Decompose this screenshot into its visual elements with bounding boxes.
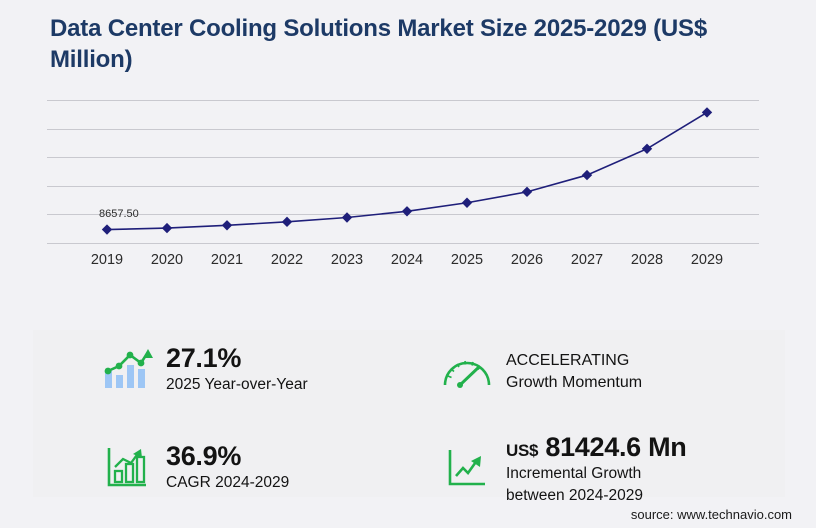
chart-data-point: [402, 206, 412, 216]
chart-data-point: [162, 223, 172, 233]
x-axis-tick-label: 2028: [617, 252, 677, 268]
chart-data-point: [522, 187, 532, 197]
stat-unit: US$: [506, 441, 538, 460]
chart-data-point: [462, 198, 472, 208]
stat-value: US$ 81424.6 Mn: [506, 432, 686, 462]
stat-incremental-growth: US$ 81424.6 Mn Incremental Growth betwee…: [440, 432, 686, 505]
x-axis-tick-label: 2029: [677, 252, 737, 268]
bar-line-growth-icon: [100, 342, 154, 396]
chart-data-point: [222, 220, 232, 230]
x-axis-tick-label: 2024: [377, 252, 437, 268]
chart-data-point: [702, 107, 712, 117]
chart-series: [47, 100, 759, 255]
stat-caption: Growth Momentum: [506, 372, 642, 394]
stat-headline: ACCELERATING: [506, 350, 642, 372]
stat-caption: CAGR 2024-2029: [166, 473, 289, 492]
x-axis-tick-label: 2021: [197, 252, 257, 268]
gauge-icon: [440, 345, 494, 399]
stat-caption-line2: between 2024-2029: [506, 486, 686, 505]
stat-text: 27.1% 2025 Year-over-Year: [166, 343, 308, 395]
chart-data-point: [102, 224, 112, 234]
x-axis-tick-label: 2019: [77, 252, 137, 268]
chart-data-point: [282, 217, 292, 227]
x-axis-tick-label: 2027: [557, 252, 617, 268]
line-chart: 8657.50 20192020202120222023202420252026…: [0, 0, 816, 300]
cagr-bar-icon: [100, 440, 154, 494]
x-axis-tick-label: 2026: [497, 252, 557, 268]
stat-value: 36.9%: [166, 441, 289, 471]
chart-data-point: [582, 170, 592, 180]
stat-value: 27.1%: [166, 343, 308, 373]
x-axis-tick-label: 2020: [137, 252, 197, 268]
chart-data-point: [642, 144, 652, 154]
stat-text: US$ 81424.6 Mn Incremental Growth betwee…: [506, 432, 686, 505]
x-axis-tick-label: 2022: [257, 252, 317, 268]
chart-point-label: 8657.50: [99, 208, 139, 220]
stat-cagr: 36.9% CAGR 2024-2029: [100, 440, 289, 494]
stat-caption-line1: Incremental Growth: [506, 464, 686, 483]
stat-amount: 81424.6 Mn: [545, 432, 686, 462]
stat-text: 36.9% CAGR 2024-2029: [166, 441, 289, 493]
x-axis-tick-label: 2023: [317, 252, 377, 268]
x-axis-tick-label: 2025: [437, 252, 497, 268]
stat-growth-momentum: ACCELERATING Growth Momentum: [440, 345, 642, 399]
trend-arrow-icon: [440, 441, 494, 495]
chart-plot-area: 8657.50: [47, 100, 759, 243]
stat-year-over-year: 27.1% 2025 Year-over-Year: [100, 342, 308, 396]
chart-data-point: [342, 212, 352, 222]
stat-text: ACCELERATING Growth Momentum: [506, 350, 642, 394]
source-note: source: www.technavio.com: [631, 507, 792, 522]
x-axis-labels: 2019202020212022202320242025202620272028…: [47, 252, 759, 272]
stat-caption: 2025 Year-over-Year: [166, 375, 308, 394]
